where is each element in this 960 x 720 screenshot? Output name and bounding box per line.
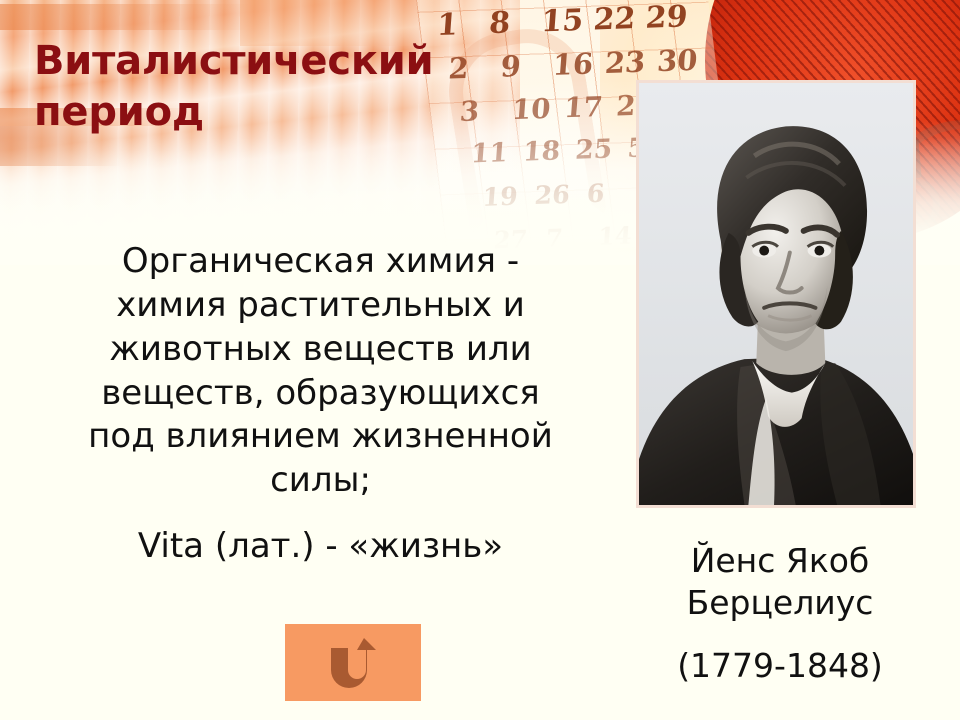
vita-etymology-text: Vita (лат.) - «жизнь» <box>58 525 583 569</box>
portrait-image <box>636 80 916 508</box>
scientist-years: (1779-1848) <box>610 646 950 686</box>
portrait-caption: Йенс Якоб Берцелиус (1779-1848) <box>610 540 950 685</box>
definition-block: Органическая химия - химия растительных … <box>58 240 583 569</box>
scientist-name: Йенс Якоб Берцелиус <box>610 540 950 624</box>
return-button[interactable] <box>285 624 421 701</box>
u-turn-arrow-icon <box>326 637 380 689</box>
page-title: Виталистический период <box>34 36 634 138</box>
definition-text: Органическая химия - химия растительных … <box>58 240 583 503</box>
slide: 1815222929162330310172441118255121926613… <box>0 0 960 720</box>
